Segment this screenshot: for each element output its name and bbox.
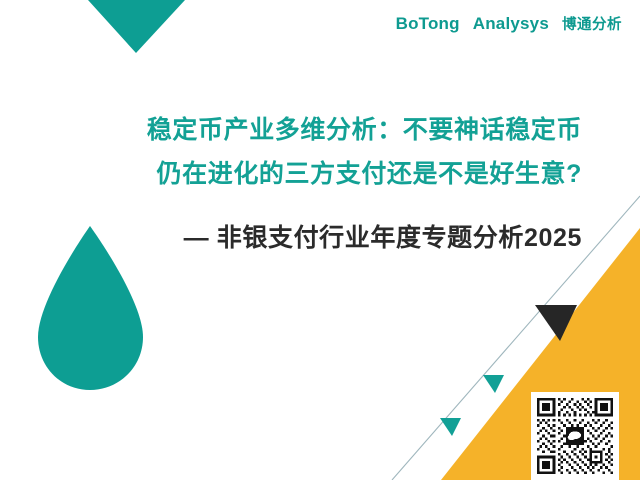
page-subtitle: — 非银支付行业年度专题分析2025 [0,218,582,258]
title-line-1: 稳定币产业多维分析：不要神话稳定币 [0,108,582,152]
teal-arrow-marker-1 [483,375,504,393]
qr-code-modules [537,398,613,474]
teal-down-triangle [88,0,185,53]
black-accent-triangle [535,305,577,341]
brand-name-chinese: 博通分析 [562,13,622,34]
title-line-2: 仍在进化的三方支付还是不是好生意? [0,152,582,196]
brand-name-botong: BoTong [396,14,460,34]
qr-code[interactable] [537,398,613,474]
page-title: 稳定币产业多维分析：不要神话稳定币 仍在进化的三方支付还是不是好生意? [0,108,582,196]
teal-arrow-marker-2 [440,418,461,436]
brand-lockup: BoTong Analysys 博通分析 [396,13,622,34]
qr-code-frame[interactable] [531,392,619,480]
brand-name-analysys: Analysys [473,14,549,34]
subtitle-line-1: — 非银支付行业年度专题分析2025 [0,218,582,258]
cover-slide: BoTong Analysys 博通分析 稳定币产业多维分析：不要神话稳定币 仍… [0,0,640,480]
